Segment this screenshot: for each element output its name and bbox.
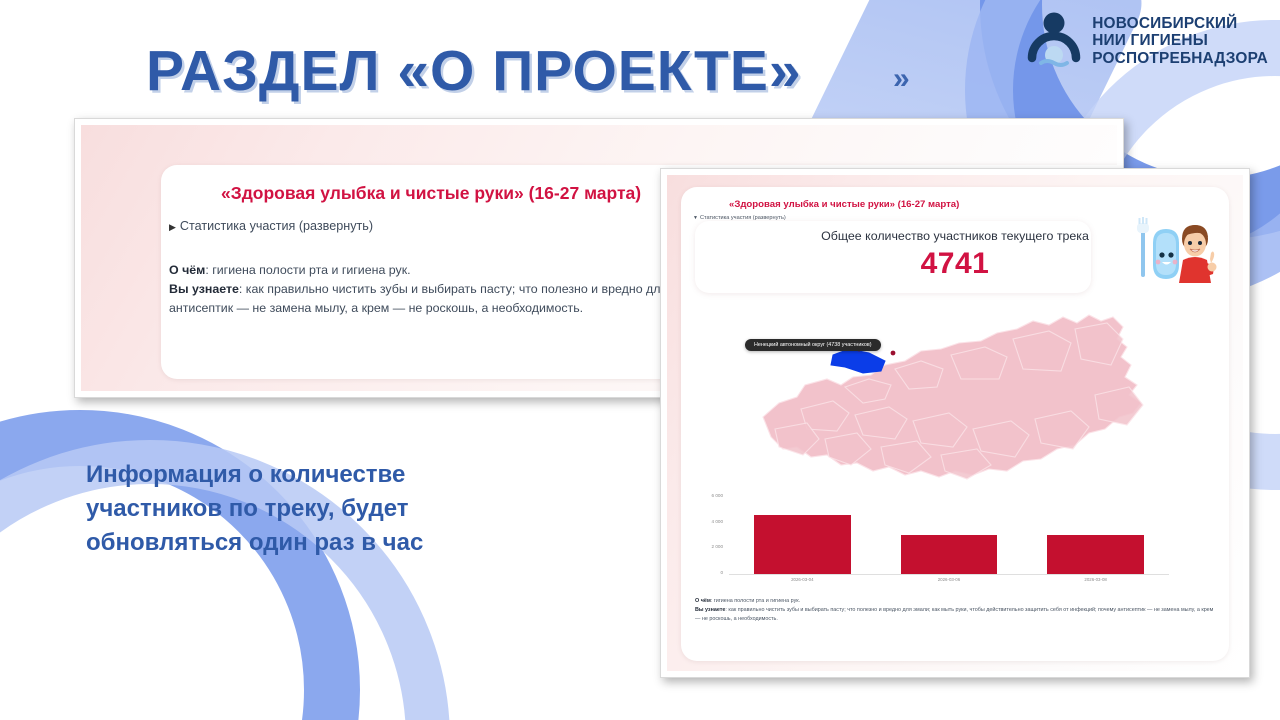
front-about-label: О чём bbox=[695, 598, 711, 604]
front-learn-text: : как правильно чистить зубы и выбирать … bbox=[695, 607, 1213, 622]
y-tick-0: 6 000 bbox=[712, 493, 724, 498]
front-content-panel: «Здоровая улыбка и чистые руки» (16-27 м… bbox=[681, 187, 1229, 661]
page-title: РАЗДЕЛ «О ПРОЕКТЕ» bbox=[146, 38, 802, 104]
chart-plot-area bbox=[729, 499, 1169, 575]
highlighted-region-nenets[interactable] bbox=[831, 349, 885, 373]
logo-line-3: РОСПОТРЕБНАДЗОРА bbox=[1092, 50, 1268, 67]
chart-bar[interactable] bbox=[1047, 535, 1144, 574]
y-tick-1: 4 000 bbox=[712, 519, 724, 524]
boy-character-icon bbox=[1179, 225, 1217, 283]
y-tick-2: 2 000 bbox=[712, 544, 724, 549]
logo-line-1: НОВОСИБИРСКИЙ bbox=[1092, 15, 1268, 32]
slide-caption: Информация о количестве участников по тр… bbox=[86, 458, 506, 560]
back-about-text: : гигиена полости рта и гигиена рук. bbox=[205, 263, 410, 277]
chart-bar[interactable] bbox=[754, 515, 851, 574]
map-marker-2 bbox=[891, 351, 896, 356]
y-tick-3: 0 bbox=[720, 570, 723, 575]
logo-text-block: НОВОСИБИРСКИЙ НИИ ГИГИЕНЫ РОСПОТРЕБНАДЗО… bbox=[1092, 15, 1268, 67]
logo-person-water-icon bbox=[1025, 10, 1083, 72]
triangle-down-icon: ▼ bbox=[693, 215, 698, 221]
screenshot-front-surface: «Здоровая улыбка и чистые руки» (16-27 м… bbox=[667, 175, 1243, 671]
logo-line-2: НИИ ГИГИЕНЫ bbox=[1092, 32, 1268, 49]
map-tooltip: Ненецкий автономный округ (4738 участник… bbox=[745, 339, 881, 351]
back-stats-expander[interactable]: ▶Статистика участия (развернуть) bbox=[169, 219, 373, 233]
x-tick-label: 2026-03-08 bbox=[1047, 577, 1144, 589]
back-about-label: О чём bbox=[169, 263, 205, 277]
front-track-title: «Здоровая улыбка и чистые руки» (16-27 м… bbox=[729, 199, 959, 210]
x-tick-label: 2026-03-04 bbox=[754, 577, 851, 589]
toothbrush-icon bbox=[1137, 217, 1149, 277]
front-about-text: : гигиена полости рта и гигиена рук. bbox=[711, 598, 800, 604]
chart-y-axis: 6 000 4 000 2 000 0 bbox=[695, 493, 727, 575]
chart-x-axis: 2026-03-042026-03-062026-03-08 bbox=[729, 577, 1169, 589]
back-track-title: «Здоровая улыбка и чистые руки» (16-27 м… bbox=[221, 183, 641, 204]
institute-logo: НОВОСИБИРСКИЙ НИИ ГИГИЕНЫ РОСПОТРЕБНАДЗО… bbox=[1025, 10, 1268, 72]
tooth-character-icon bbox=[1153, 229, 1179, 279]
triangle-right-icon: ▶ bbox=[169, 222, 176, 232]
front-about-line: О чём: гигиена полости рта и гигиена рук… bbox=[695, 597, 1215, 606]
chevron-right-icon: » bbox=[893, 62, 904, 96]
back-expander-label: Статистика участия (развернуть) bbox=[180, 219, 373, 233]
screenshot-card-front: «Здоровая улыбка и чистые руки» (16-27 м… bbox=[660, 168, 1250, 678]
x-tick-label: 2026-03-06 bbox=[901, 577, 998, 589]
front-learn-line: Вы узнаете: как правильно чистить зубы и… bbox=[695, 606, 1215, 624]
front-description: О чём: гигиена полости рта и гигиена рук… bbox=[695, 597, 1215, 623]
russia-map-svg bbox=[693, 299, 1217, 489]
mascot-tooth-and-boy-icon bbox=[1133, 213, 1219, 291]
chart-bar[interactable] bbox=[901, 535, 998, 574]
participants-bar-chart: 6 000 4 000 2 000 0 2026-03-042026-03-06… bbox=[695, 493, 1215, 591]
back-learn-label: Вы узнаете bbox=[169, 282, 239, 296]
russia-map[interactable]: Ненецкий автономный округ (4738 участник… bbox=[693, 299, 1217, 489]
front-learn-label: Вы узнаете bbox=[695, 607, 725, 613]
